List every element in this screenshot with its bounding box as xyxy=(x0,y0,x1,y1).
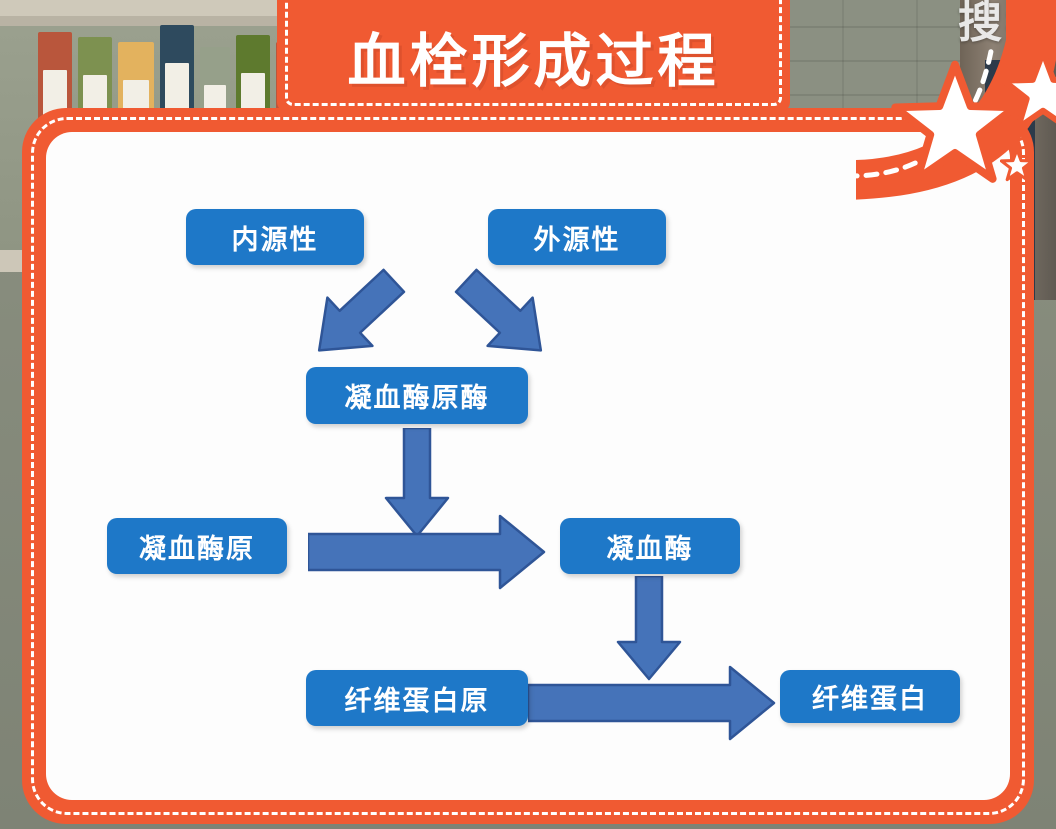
flowchart-node-fibrin: 纤维蛋白 xyxy=(780,670,960,723)
flowchart-node-thrombin: 凝血酶 xyxy=(560,518,740,574)
flowchart-node-prothrombinase: 凝血酶原酶 xyxy=(306,367,528,424)
arrow-intrinsic-to-prothrombinase xyxy=(290,262,420,372)
arrow-prothrombin-to-thrombin xyxy=(308,512,548,592)
flowchart-node-extrinsic: 外源性 xyxy=(488,209,666,265)
arrow-fibrinogen-to-fibrin xyxy=(528,663,778,743)
flowchart-node-fibrinogen: 纤维蛋白原 xyxy=(306,670,528,726)
flowchart-node-intrinsic: 内源性 xyxy=(186,209,364,265)
arrow-extrinsic-to-prothrombinase xyxy=(440,262,570,372)
flowchart-node-prothrombin: 凝血酶原 xyxy=(107,518,287,574)
coagulation-flowchart: 内源性外源性凝血酶原酶凝血酶原凝血酶纤维蛋白原纤维蛋白 xyxy=(0,0,1056,829)
